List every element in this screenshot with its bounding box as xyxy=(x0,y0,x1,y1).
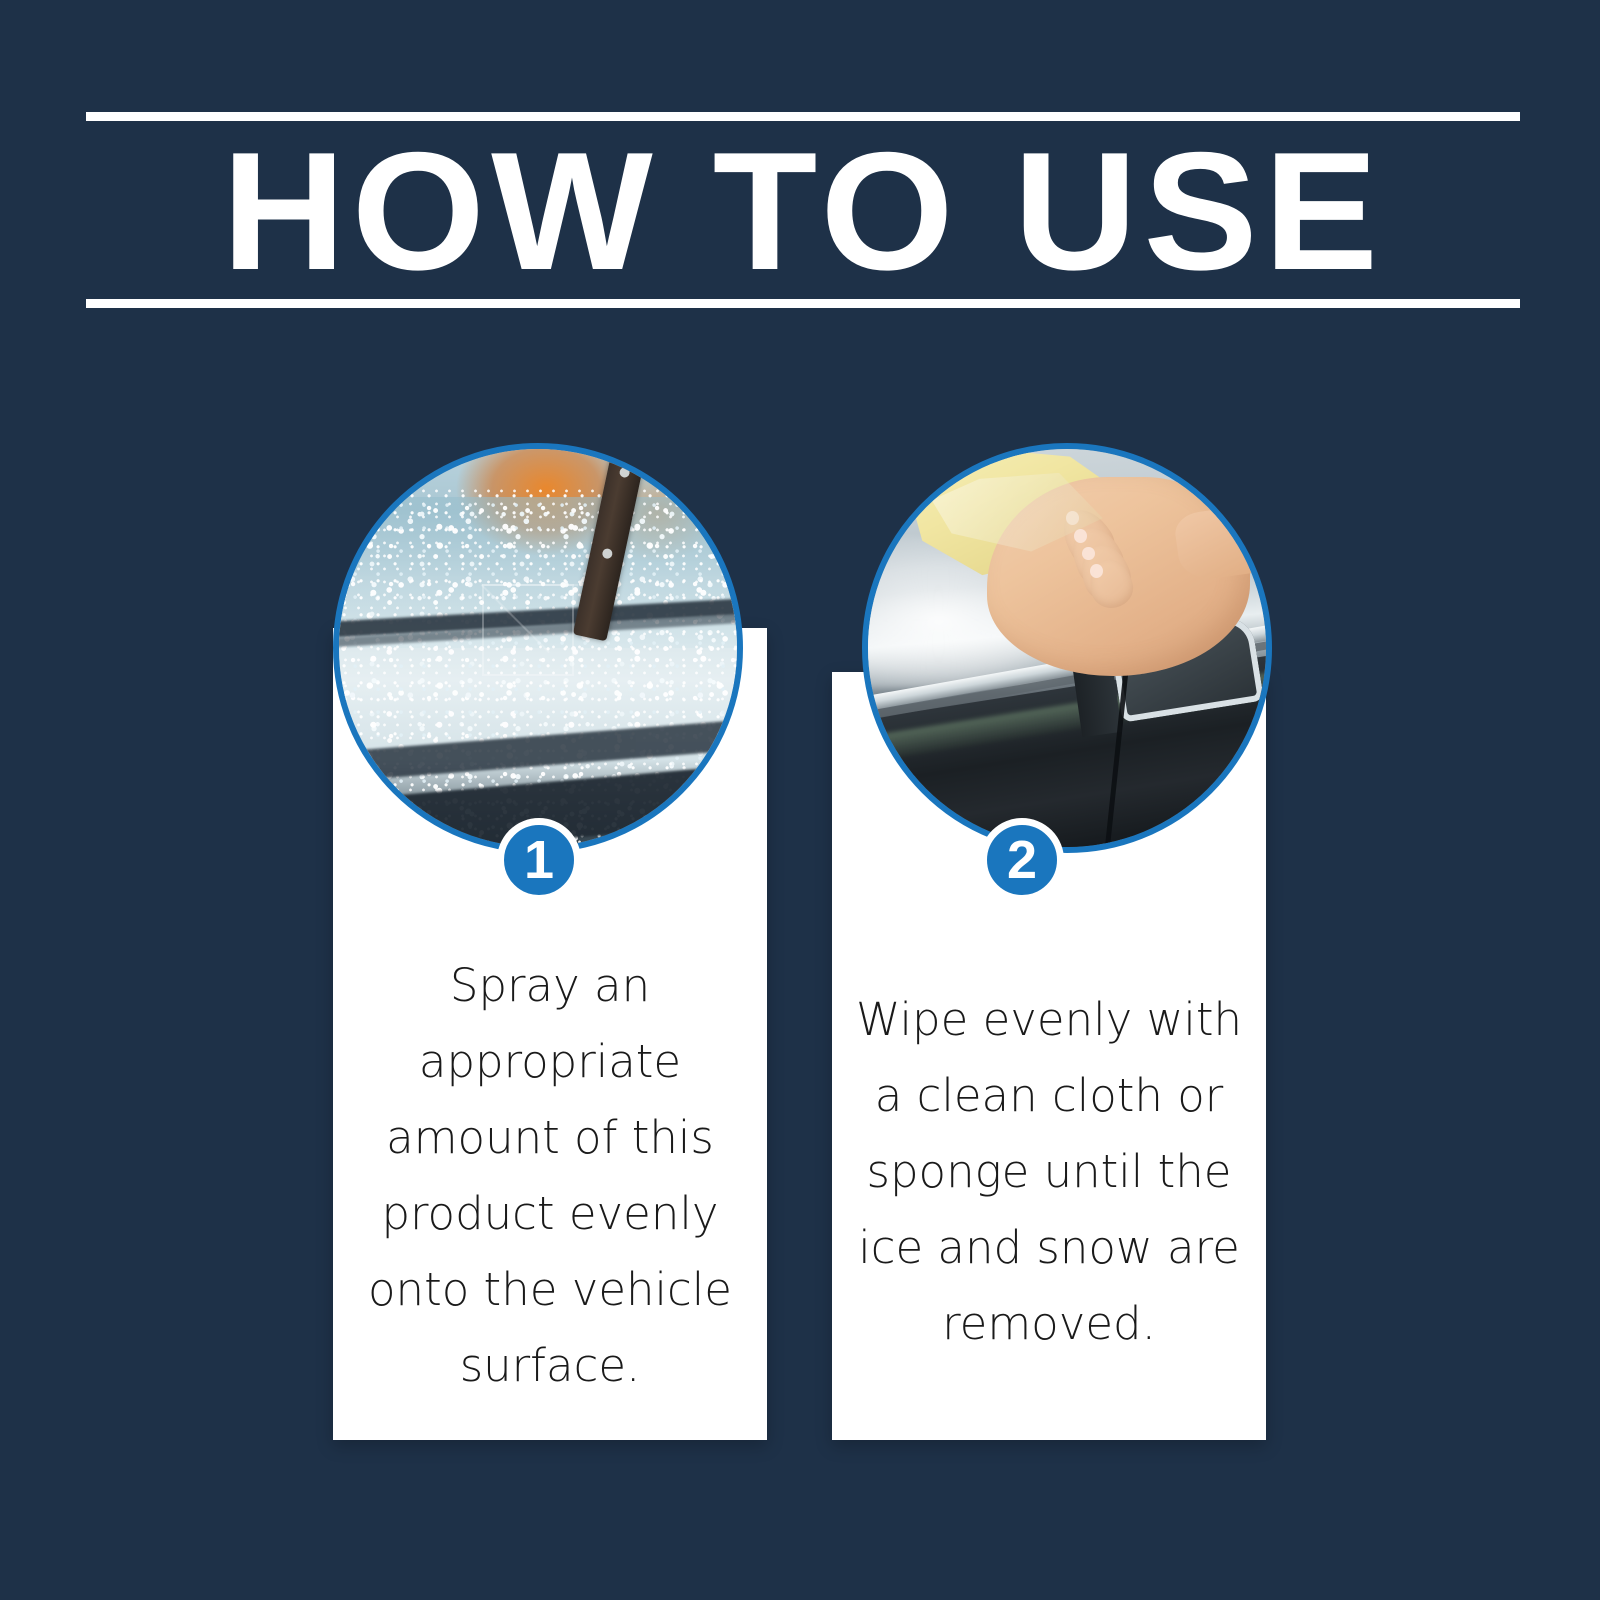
watermark-mark xyxy=(482,584,574,676)
hand-wiping-window-with-cloth-photo xyxy=(862,443,1272,853)
frosted-windshield-photo xyxy=(333,443,743,853)
step-number-badge-1: 1 xyxy=(497,818,581,902)
step-caption-2: Wipe evenly with a clean cloth or sponge… xyxy=(854,982,1244,1362)
step-caption-1: Spray an appropriate amount of this prod… xyxy=(355,948,745,1404)
steps-container: 1 Spray an appropriate amount of this pr… xyxy=(0,0,1600,1600)
step-number-badge-2: 2 xyxy=(980,818,1064,902)
